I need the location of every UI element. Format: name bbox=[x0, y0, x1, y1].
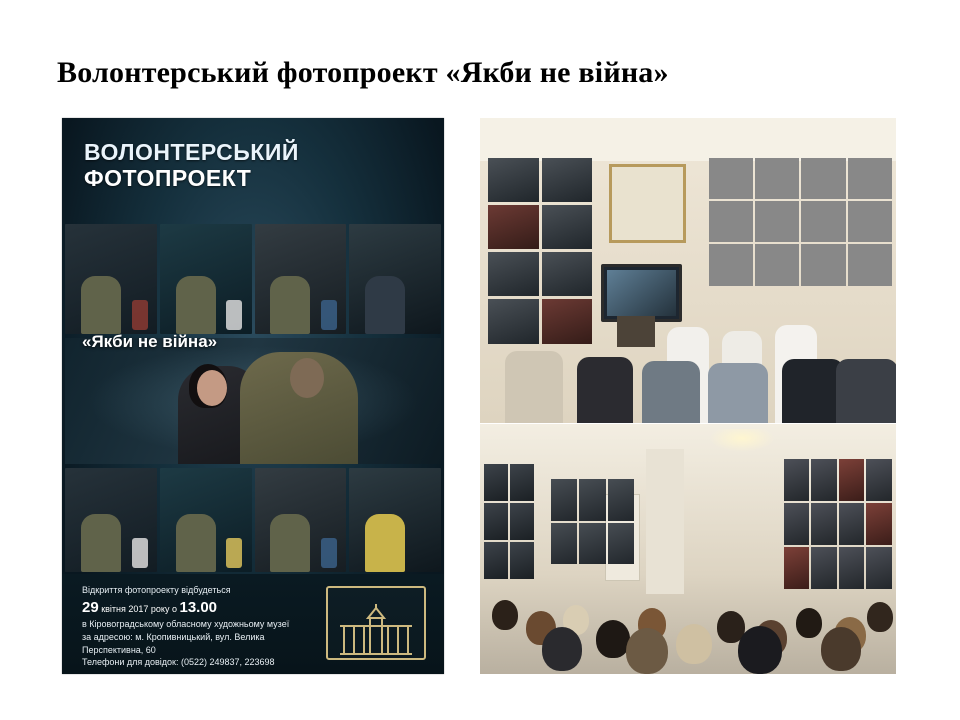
portrait-cell bbox=[255, 224, 347, 334]
poster-footer-text: Відкриття фотопроекту відбудеться 29 кві… bbox=[82, 584, 322, 669]
poster-headline: ВОЛОНТЕРСЬКИЙ ФОТОПРОЕКТ bbox=[84, 140, 426, 192]
footer-line-3: в Кіровоградському обласному художньому … bbox=[82, 618, 322, 631]
page-title: Волонтерський фотопроект «Якби не війна» bbox=[57, 56, 917, 90]
footer-line-4: за адресою: м. Кропивницький, вул. Велик… bbox=[82, 631, 322, 657]
footer-line-1: Відкриття фотопроекту відбудеться bbox=[82, 584, 322, 597]
footer-time: 13.00 bbox=[179, 599, 217, 616]
portrait-cell bbox=[349, 468, 441, 572]
poster-headline-line2: ФОТОПРОЕКТ bbox=[84, 166, 426, 192]
chandelier-light bbox=[709, 429, 776, 452]
exhibition-hall-audience-photo bbox=[480, 424, 896, 674]
footer-datetime: 29 квітня 2017 року о 13.00 bbox=[82, 597, 322, 618]
footer-line-5: Телефони для довідок: (0522) 249837, 223… bbox=[82, 656, 322, 669]
slide: Волонтерський фотопроект «Якби не війна»… bbox=[0, 0, 960, 720]
portrait-cell bbox=[160, 468, 252, 572]
poster-main-photo bbox=[65, 338, 441, 464]
accessory-shape bbox=[321, 300, 337, 330]
woman-face bbox=[197, 370, 227, 406]
portrait-cell bbox=[349, 224, 441, 334]
flags-and-portraits-band bbox=[709, 158, 892, 286]
framed-info-plaque bbox=[609, 164, 686, 243]
portrait-cell bbox=[65, 468, 157, 572]
portrait-cell bbox=[160, 224, 252, 334]
poster-portrait-strip-bottom bbox=[62, 468, 444, 572]
poster-headline-line1: ВОЛОНТЕРСЬКИЙ bbox=[84, 140, 426, 166]
portrait-cell bbox=[65, 224, 157, 334]
accessory-shape bbox=[321, 538, 337, 568]
visitors-group bbox=[480, 289, 896, 423]
photo-ceiling bbox=[480, 118, 896, 161]
accessory-shape bbox=[132, 300, 148, 330]
accessory-shape bbox=[226, 538, 242, 568]
portrait-cell bbox=[255, 468, 347, 572]
poster-footer: Відкриття фотопроекту відбудеться 29 кві… bbox=[62, 574, 444, 674]
audience-crowd bbox=[480, 544, 896, 674]
poster-subtitle: «Якби не війна» bbox=[82, 332, 217, 352]
poster-portrait-strip-top bbox=[62, 224, 444, 334]
exhibition-opening-photo bbox=[480, 118, 896, 423]
footer-date-day: 29 bbox=[82, 599, 99, 616]
accessory-shape bbox=[132, 538, 148, 568]
footer-date-rest: квітня 2017 року о bbox=[101, 604, 177, 614]
museum-building-logo-icon bbox=[326, 586, 426, 660]
event-poster: ВОЛОНТЕРСЬКИЙ ФОТОПРОЕКТ bbox=[62, 118, 444, 674]
accessory-shape bbox=[226, 300, 242, 330]
